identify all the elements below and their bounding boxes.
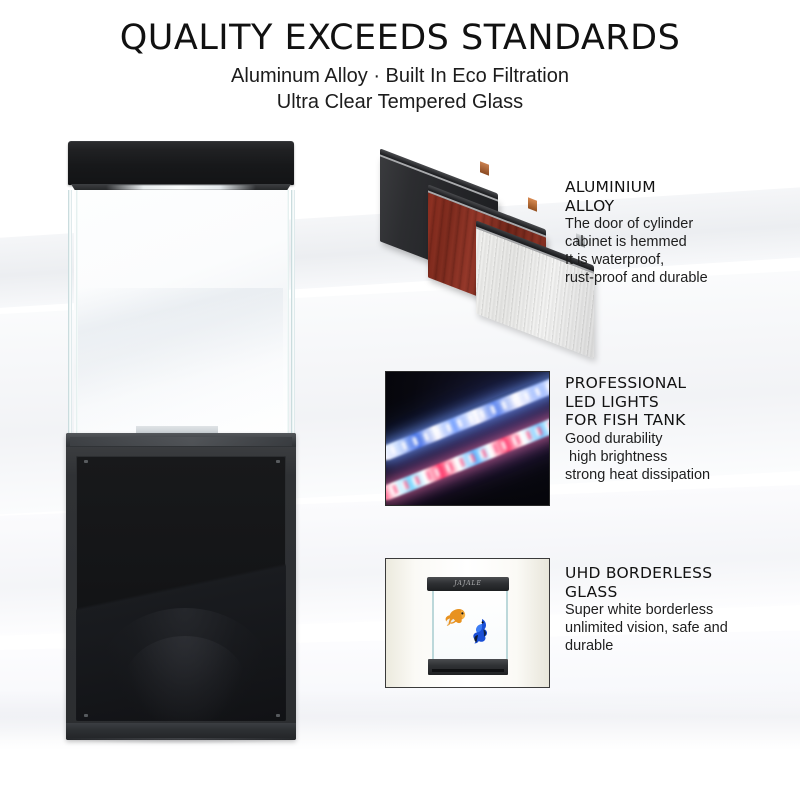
cabinet-top-surface bbox=[70, 437, 292, 446]
tank-glass-edge-left-inner bbox=[76, 190, 78, 436]
feature-3-body: Super white borderless unlimited vision,… bbox=[565, 602, 728, 656]
main-product-image bbox=[60, 138, 305, 746]
subtitle-line-1: Aluminum Alloy · Built In Eco Filtration bbox=[0, 63, 800, 89]
cabinet-door-panels-photo bbox=[380, 158, 550, 323]
tank-glass-edge-left-outer bbox=[68, 190, 72, 436]
led-light-strips-photo bbox=[385, 371, 550, 506]
goldfish-icon bbox=[442, 605, 470, 631]
subtitle-line-2: Ultra Clear Tempered Glass bbox=[0, 89, 800, 115]
cabinet-screw-bottom-left bbox=[84, 714, 88, 717]
header-block: QUALITY EXCEEDS STANDARDS Aluminum Alloy… bbox=[0, 20, 800, 116]
feature-1-title: ALUMINIUM ALLOY bbox=[565, 178, 708, 215]
feature-2-title-line-1: PROFESSIONAL LED LIGHTS bbox=[565, 374, 710, 411]
blue-betta-icon bbox=[470, 617, 492, 647]
panel-hinge-tab-2 bbox=[528, 197, 537, 211]
tank-glass-edge-right-outer bbox=[291, 190, 295, 436]
infographic-canvas: QUALITY EXCEEDS STANDARDS Aluminum Alloy… bbox=[0, 0, 800, 800]
cabinet-screw-top-left bbox=[84, 460, 88, 463]
tank-hood bbox=[68, 142, 294, 185]
cabinet-ground-shadow bbox=[64, 738, 298, 744]
cabinet-screw-bottom-right bbox=[276, 714, 280, 717]
cabinet-door-arc-highlight-2 bbox=[124, 636, 246, 731]
feature-2-title-line-2: FOR FISH TANK bbox=[565, 411, 710, 430]
cabinet-screw-top-right bbox=[276, 460, 280, 463]
tank-glass-reflection bbox=[78, 288, 283, 438]
small-tank-base bbox=[428, 659, 508, 675]
small-tank-base-vent bbox=[432, 669, 504, 672]
feature-3-text-block: UHD BORDERLESS GLASS Super white borderl… bbox=[565, 564, 728, 656]
feature-1-text-block: ALUMINIUM ALLOY The door of cylinder cab… bbox=[565, 178, 708, 288]
feature-3-title: UHD BORDERLESS GLASS bbox=[565, 564, 728, 601]
feature-2-text-block: PROFESSIONAL LED LIGHTS FOR FISH TANK Go… bbox=[565, 374, 710, 485]
panel-hinge-tab-1 bbox=[480, 161, 489, 175]
tank-brand-logo: JAJALE bbox=[444, 580, 492, 588]
tank-glass-edge-right-inner bbox=[287, 190, 289, 436]
fish-tank-with-fish-photo: JAJALE bbox=[385, 558, 550, 688]
feature-2-body: Good durability high brightness strong h… bbox=[565, 431, 710, 485]
page-title: QUALITY EXCEEDS STANDARDS bbox=[0, 20, 800, 57]
feature-1-body: The door of cylinder cabinet is hemmed I… bbox=[565, 216, 708, 288]
